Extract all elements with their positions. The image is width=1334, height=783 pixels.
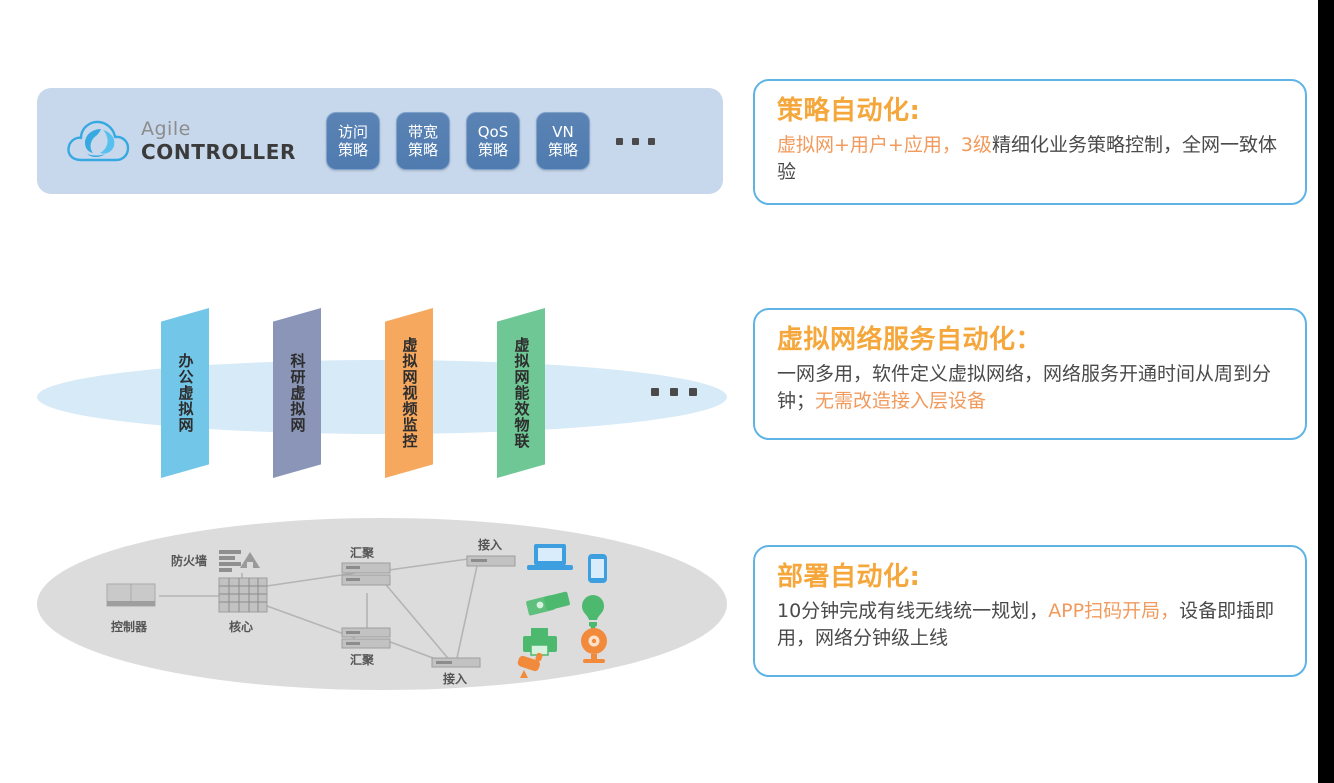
- virtual-network-group: 办公虚拟网 科研虚拟网 虚拟网 视频监控 虚拟网 能效物联: [37, 300, 727, 495]
- policy-chip-row: 访问 策略 带宽 策略 QoS 策略 VN 策略: [326, 112, 655, 170]
- policy-chip-bandwidth-line2: 策略: [408, 141, 438, 159]
- virtual-network-plane-video[interactable]: 虚拟网 视频监控: [385, 308, 433, 478]
- access-node-bottom-icon: [432, 658, 480, 667]
- policy-chip-vn-line2: 策略: [548, 141, 578, 159]
- virtual-network-plane-research[interactable]: 科研虚拟网: [273, 308, 321, 478]
- virtual-network-plane-office[interactable]: 办公虚拟网: [161, 308, 209, 478]
- node-label-firewall: 防火墙: [171, 552, 207, 569]
- virtual-network-backdrop-ellipse: [37, 360, 727, 434]
- plane-label-office-col1: 办公虚拟网: [176, 353, 195, 433]
- info-card-policy-body-highlight: 虚拟网+用户+应用，3级: [777, 134, 992, 156]
- policy-chip-access[interactable]: 访问 策略: [326, 112, 380, 170]
- link-access-cross: [457, 566, 477, 658]
- policy-chip-vn-line1: VN: [552, 123, 573, 141]
- node-label-aggregation-top: 汇聚: [350, 544, 374, 561]
- webcam-icon: [581, 628, 607, 663]
- virtual-network-plane-iot[interactable]: 虚拟网 能效物联: [497, 308, 545, 478]
- info-card-vn-title: 虚拟网络服务自动化：: [777, 324, 1283, 357]
- node-label-access-bottom: 接入: [443, 670, 467, 687]
- policy-chip-vn[interactable]: VN 策略: [536, 112, 590, 170]
- cctv-icon: [517, 652, 543, 678]
- banknote-icon: [526, 591, 571, 616]
- info-card-deploy-title: 部署自动化:: [777, 561, 1283, 594]
- info-card-vn-service-automation: 虚拟网络服务自动化： 一网多用，软件定义虚拟网络，网络服务开通时间从周到分钟；无…: [753, 308, 1307, 440]
- controller-node-icon: [107, 584, 155, 606]
- plane-label-research: 科研虚拟网: [288, 353, 307, 433]
- plane-label-video-col2: 虚拟网: [400, 337, 419, 385]
- bulb-icon: [582, 595, 604, 632]
- plane-label-video-col1: 视频监控: [400, 385, 419, 449]
- plane-label-iot-col2: 虚拟网: [512, 337, 531, 385]
- slide-canvas: Agile CONTROLLER 访问 策略 带宽 策略 QoS 策略 VN 策…: [0, 0, 1334, 783]
- tablet-icon: [588, 554, 607, 583]
- right-edge-strip: [1318, 0, 1334, 783]
- firewall-node-icon: [219, 550, 260, 572]
- network-topology-graphics: [37, 518, 727, 690]
- node-label-core: 核心: [229, 618, 253, 635]
- info-card-vn-body-highlight: 无需改造接入层设备: [815, 390, 986, 412]
- policy-chip-bandwidth-line1: 带宽: [408, 123, 438, 141]
- printer-icon: [523, 628, 557, 655]
- info-card-policy-body: 虚拟网+用户+应用，3级精细化业务策略控制，全网一致体验: [777, 132, 1283, 186]
- core-node-icon: [219, 578, 267, 612]
- plane-label-research-col1: 科研虚拟网: [288, 353, 307, 433]
- policy-chip-access-line2: 策略: [338, 141, 368, 159]
- network-topology-group: 控制器 防火墙 核心 汇聚 汇聚 接入 接入: [37, 518, 727, 690]
- aggregation-node-bottom-icon: [342, 628, 390, 648]
- logo-controller-text: CONTROLLER: [141, 142, 296, 162]
- node-label-controller: 控制器: [111, 618, 147, 635]
- link-agg-access-cross: [382, 580, 452, 663]
- agile-controller-bar: Agile CONTROLLER 访问 策略 带宽 策略 QoS 策略 VN 策…: [37, 88, 723, 194]
- plane-label-office: 办公虚拟网: [176, 353, 195, 433]
- info-card-policy-title: 策略自动化:: [777, 95, 1283, 128]
- policy-chip-qos[interactable]: QoS 策略: [466, 112, 520, 170]
- info-card-policy-automation: 策略自动化: 虚拟网+用户+应用，3级精细化业务策略控制，全网一致体验: [753, 79, 1307, 205]
- virtual-network-more-ellipsis-icon: [651, 388, 697, 396]
- node-label-access-top: 接入: [478, 536, 502, 553]
- cloud-swirl-icon: [65, 115, 131, 167]
- policy-more-ellipsis-icon: [616, 138, 655, 145]
- info-card-vn-body: 一网多用，软件定义虚拟网络，网络服务开通时间从周到分钟；无需改造接入层设备: [777, 361, 1283, 415]
- link-agg-access-top: [389, 558, 475, 570]
- info-card-deployment-automation: 部署自动化: 10分钟完成有线无线统一规划，APP扫码开局，设备即插即用，网络分…: [753, 545, 1307, 677]
- policy-chip-access-line1: 访问: [338, 123, 368, 141]
- plane-label-video: 虚拟网 视频监控: [400, 337, 419, 449]
- logo-agile-text: Agile: [141, 120, 296, 139]
- agile-controller-logo: Agile CONTROLLER: [65, 115, 296, 167]
- access-node-top-icon: [467, 556, 515, 566]
- policy-chip-qos-line2: 策略: [478, 141, 508, 159]
- info-card-deploy-body-rest: 10分钟完成有线无线统一规划，: [777, 600, 1048, 622]
- node-label-aggregation-bottom: 汇聚: [350, 651, 374, 668]
- info-card-deploy-body-highlight: APP扫码开局，: [1048, 600, 1179, 622]
- plane-label-iot-col1: 能效物联: [512, 385, 531, 449]
- policy-chip-qos-line1: QoS: [478, 123, 509, 141]
- info-card-deploy-body: 10分钟完成有线无线统一规划，APP扫码开局，设备即插即用，网络分钟级上线: [777, 598, 1283, 652]
- laptop-icon: [527, 544, 573, 570]
- plane-label-iot: 虚拟网 能效物联: [512, 337, 531, 449]
- policy-chip-bandwidth[interactable]: 带宽 策略: [396, 112, 450, 170]
